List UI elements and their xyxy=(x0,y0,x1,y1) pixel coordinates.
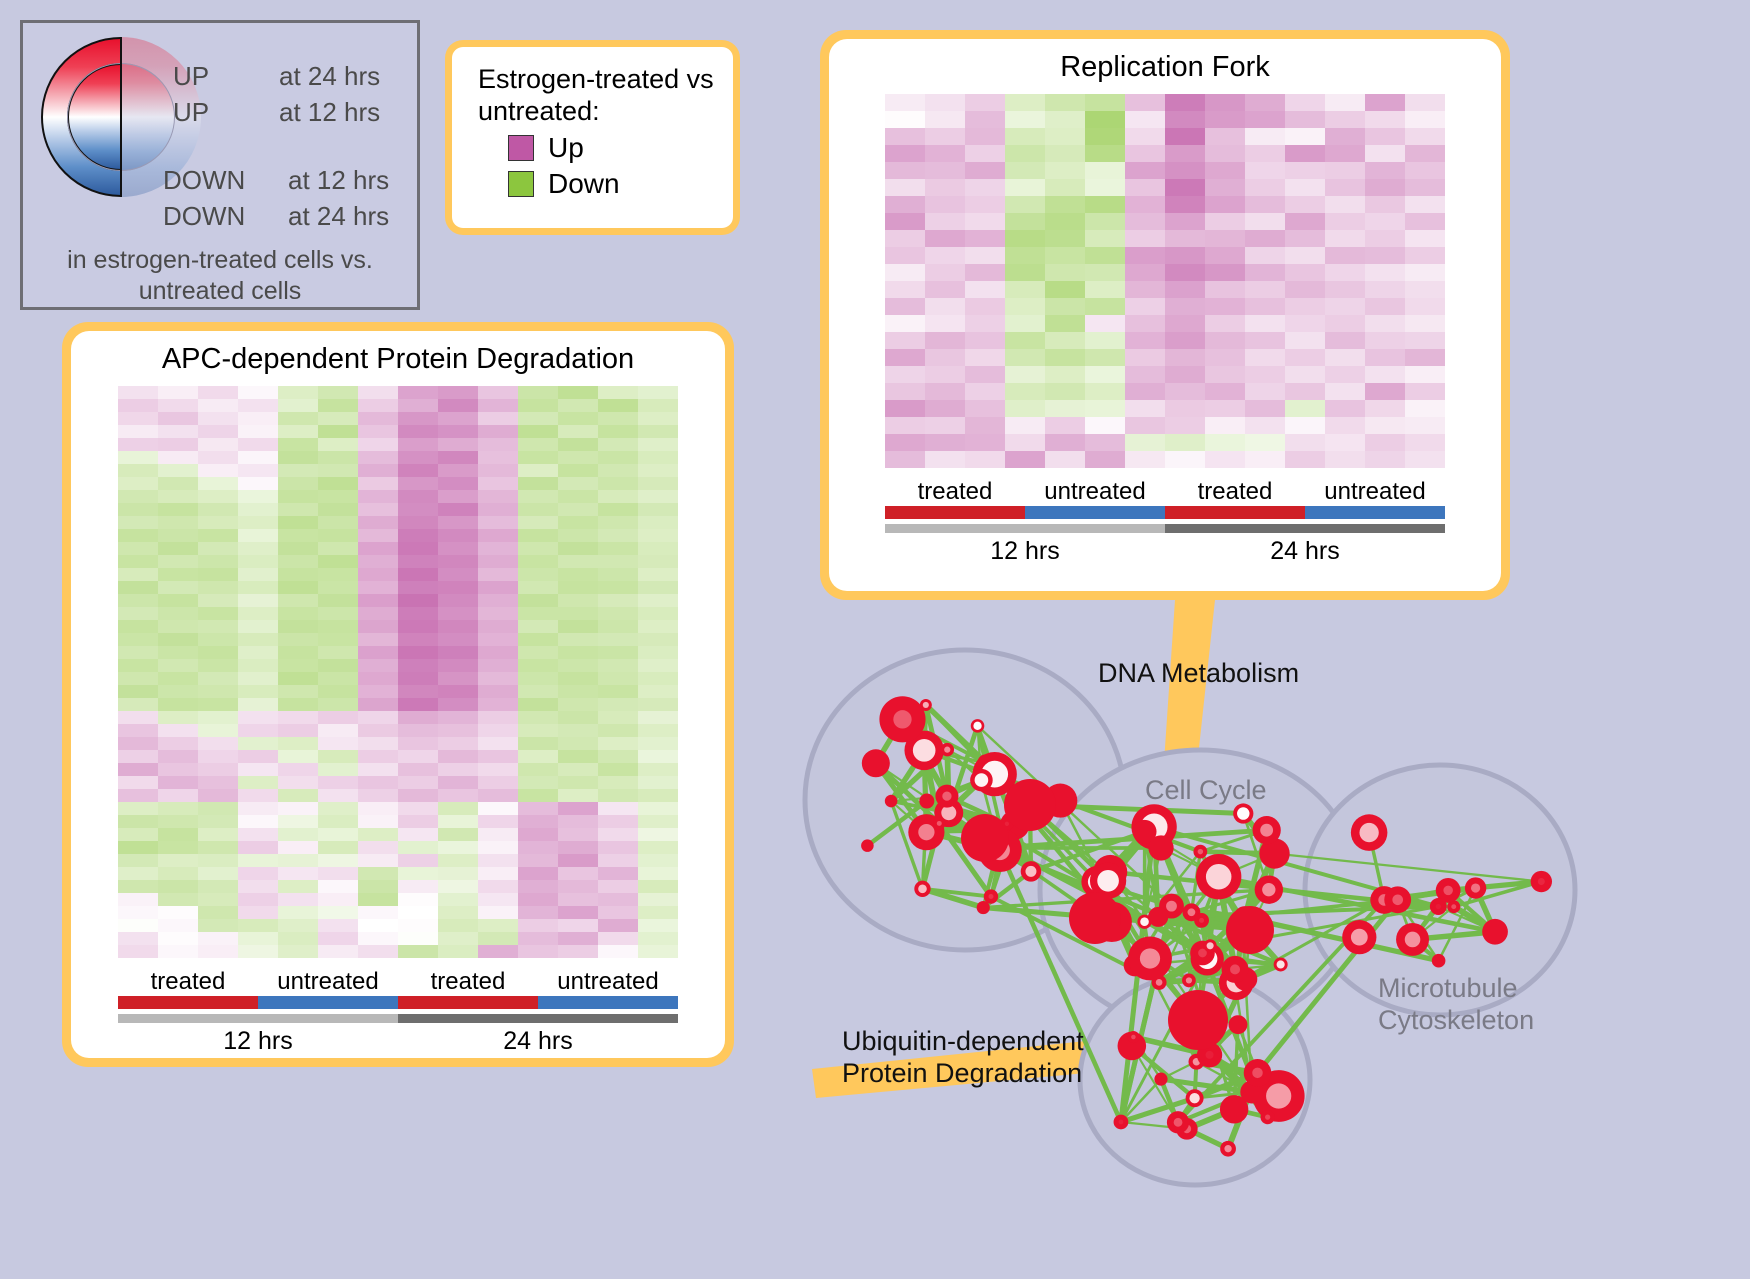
heatmap-cell xyxy=(1325,451,1365,468)
heatmap-cell xyxy=(1005,264,1045,281)
timepoint-colour-bar xyxy=(885,524,1445,533)
heatmap-cell xyxy=(198,399,238,412)
network-node[interactable] xyxy=(1167,1111,1189,1133)
heatmap-cell xyxy=(278,503,318,516)
heatmap-cell xyxy=(638,646,678,659)
heatmap-cell xyxy=(1085,434,1125,451)
heatmap-cell xyxy=(318,620,358,633)
heatmap-cell xyxy=(638,659,678,672)
network-node[interactable] xyxy=(1182,974,1196,988)
heatmap-cell xyxy=(438,724,478,737)
heatmap-cell xyxy=(398,399,438,412)
heatmap-cell xyxy=(598,802,638,815)
heatmap-cell xyxy=(278,750,318,763)
treatment-bar-segment xyxy=(1165,506,1305,519)
heatmap-cell xyxy=(1085,247,1125,264)
network-node[interactable] xyxy=(1233,803,1253,823)
axis-apc-degradation: treateduntreatedtreateduntreated12 hrs24… xyxy=(118,958,678,1056)
heatmap-cell xyxy=(1365,315,1405,332)
heatmap-cell xyxy=(638,503,678,516)
heatmap-cell xyxy=(358,646,398,659)
heatmap-cell xyxy=(238,555,278,568)
network-node[interactable] xyxy=(1220,1141,1236,1157)
heatmap-cell xyxy=(438,906,478,919)
heatmap-cell xyxy=(1365,451,1405,468)
heatmap-cell xyxy=(925,400,965,417)
heatmap-cell xyxy=(158,542,198,555)
heatmap-cell xyxy=(318,412,358,425)
heatmap-cell xyxy=(1045,264,1085,281)
heatmap-cell xyxy=(885,332,925,349)
heatmap-cell xyxy=(1005,281,1045,298)
heatmap-cell xyxy=(118,542,158,555)
network-node[interactable] xyxy=(1196,854,1241,899)
heatmap-cell xyxy=(158,672,198,685)
heatmap-cell xyxy=(1085,162,1125,179)
heatmap-cell xyxy=(438,516,478,529)
heatmap-cell xyxy=(1205,400,1245,417)
network-node[interactable] xyxy=(914,881,930,897)
node-outer-ring xyxy=(862,749,890,777)
heatmap-cell xyxy=(398,386,438,399)
heatmap-cell xyxy=(118,503,158,516)
heatmap-cell xyxy=(318,880,358,893)
heatmap-cell xyxy=(318,919,358,932)
heatmap-cell xyxy=(518,399,558,412)
heatmap-cell xyxy=(438,711,478,724)
heatmap-cell xyxy=(438,490,478,503)
heatmap-cell xyxy=(1405,247,1445,264)
heatmap-cell xyxy=(238,919,278,932)
heatmap-cell xyxy=(278,633,318,646)
heatmap-cell xyxy=(278,672,318,685)
heatmap-cell xyxy=(238,425,278,438)
heatmap-cell xyxy=(158,581,198,594)
heatmap-cell xyxy=(518,607,558,620)
network-node[interactable] xyxy=(1194,913,1209,928)
heatmap-cell xyxy=(398,438,438,451)
heatmap-cell xyxy=(318,555,358,568)
heatmap-cell xyxy=(1245,111,1285,128)
heatmap-cell xyxy=(885,196,925,213)
heatmap-cell xyxy=(1005,230,1045,247)
heatmap-cell xyxy=(925,281,965,298)
node-inner-core xyxy=(975,773,989,787)
network-node[interactable] xyxy=(1186,1089,1204,1107)
heatmap-cell xyxy=(478,685,518,698)
heatmap-cell xyxy=(598,633,638,646)
heatmap-cell xyxy=(1085,349,1125,366)
heatmap-cell xyxy=(318,776,358,789)
treatment-bar-segment xyxy=(398,996,538,1009)
heatmap-cell xyxy=(925,264,965,281)
heatmap-cell xyxy=(158,893,198,906)
heatmap-cell xyxy=(558,490,598,503)
network-node[interactable] xyxy=(1465,877,1486,898)
heatmap-cell xyxy=(238,542,278,555)
heatmap-cell xyxy=(398,503,438,516)
heatmap-cell xyxy=(1405,383,1445,400)
network-node[interactable] xyxy=(885,795,898,808)
legend-label-up: Up xyxy=(548,132,584,164)
heatmap-cell xyxy=(438,828,478,841)
network-node[interactable] xyxy=(1531,871,1552,892)
heatmap-cell xyxy=(358,425,398,438)
heatmap-cell xyxy=(1285,451,1325,468)
network-node[interactable] xyxy=(961,814,1009,862)
node-inner-core xyxy=(1277,960,1285,968)
heatmap-cell xyxy=(278,581,318,594)
heatmap-cell xyxy=(438,503,478,516)
wheel-row-time: at 12 hrs xyxy=(279,97,380,128)
network-node[interactable] xyxy=(970,769,993,792)
node-inner-core xyxy=(1189,1093,1199,1103)
heatmap-cell xyxy=(1205,145,1245,162)
network-node[interactable] xyxy=(879,696,925,742)
network-node[interactable] xyxy=(1244,1059,1272,1087)
heatmap-cell xyxy=(1245,417,1285,434)
network-node[interactable] xyxy=(1148,835,1173,860)
heatmap-cell xyxy=(1205,213,1245,230)
network-node[interactable] xyxy=(1127,1031,1139,1043)
heatmap-replication-fork xyxy=(885,94,1445,468)
heatmap-cell xyxy=(558,516,598,529)
heatmap-cell xyxy=(118,555,158,568)
heatmap-cell xyxy=(198,698,238,711)
heatmap-cell xyxy=(1005,145,1045,162)
network-node[interactable] xyxy=(941,743,954,756)
heatmap-cell xyxy=(158,919,198,932)
heatmap-cell xyxy=(558,594,598,607)
heatmap-cell xyxy=(478,893,518,906)
heatmap-cell xyxy=(925,417,965,434)
heatmap-cell xyxy=(478,724,518,737)
heatmap-cell xyxy=(965,145,1005,162)
network-node[interactable] xyxy=(1128,937,1172,981)
node-inner-core xyxy=(941,805,956,820)
heatmap-cell xyxy=(598,685,638,698)
heatmap-cell xyxy=(1245,383,1285,400)
heatmap-cell xyxy=(158,841,198,854)
heatmap-cell xyxy=(1165,349,1205,366)
network-node[interactable] xyxy=(1432,954,1446,968)
cluster-label-cell-cycle: Cell Cycle xyxy=(1145,775,1267,806)
network-node[interactable] xyxy=(1148,907,1168,927)
heatmap-cell xyxy=(518,698,558,711)
heatmap-cell xyxy=(558,698,598,711)
heatmap-cell xyxy=(478,594,518,607)
heatmap-cell xyxy=(1365,213,1405,230)
heatmap-cell xyxy=(518,893,558,906)
heatmap-cell xyxy=(478,828,518,841)
node-inner-core xyxy=(1451,904,1456,909)
heatmap-cell xyxy=(558,464,598,477)
heatmap-cell xyxy=(1365,281,1405,298)
heatmap-cell xyxy=(925,128,965,145)
network-node[interactable] xyxy=(919,794,934,809)
heatmap-cell xyxy=(278,828,318,841)
heatmap-cell xyxy=(1045,417,1085,434)
heatmap-cell xyxy=(965,128,1005,145)
heatmap-cell xyxy=(278,724,318,737)
heatmap-cell xyxy=(638,555,678,568)
network-node[interactable] xyxy=(1204,939,1217,952)
heatmap-cell xyxy=(518,425,558,438)
heatmap-cell xyxy=(558,737,598,750)
heatmap-cell xyxy=(198,802,238,815)
heatmap-cell xyxy=(558,555,598,568)
heatmap-cell xyxy=(398,425,438,438)
heatmap-cell xyxy=(1325,417,1365,434)
heatmap-cell xyxy=(518,763,558,776)
heatmap-cell xyxy=(638,776,678,789)
heatmap-cell xyxy=(925,111,965,128)
heatmap-cell xyxy=(118,516,158,529)
network-node[interactable] xyxy=(933,817,946,830)
heatmap-cell xyxy=(1405,94,1445,111)
network-node[interactable] xyxy=(935,785,958,808)
network-node[interactable] xyxy=(1482,919,1508,945)
heatmap-cell xyxy=(1325,230,1365,247)
heatmap-cell xyxy=(478,646,518,659)
heatmap-cell xyxy=(438,620,478,633)
heatmap-cell xyxy=(278,880,318,893)
network-node[interactable] xyxy=(861,839,874,852)
heatmap-cell xyxy=(1325,281,1365,298)
heatmap-cell xyxy=(318,607,358,620)
heatmap-cell xyxy=(158,685,198,698)
node-inner-core xyxy=(973,722,981,730)
heatmap-cell xyxy=(358,555,398,568)
heatmap-cell xyxy=(158,503,198,516)
heatmap-cell xyxy=(238,711,278,724)
node-outer-ring xyxy=(861,839,874,852)
node-outer-ring xyxy=(1069,892,1121,944)
heatmap-cell xyxy=(598,438,638,451)
heatmap-cell xyxy=(358,945,398,958)
heatmap-cell xyxy=(1165,434,1205,451)
heatmap-cell xyxy=(558,711,598,724)
heatmap-cell xyxy=(1125,145,1165,162)
node-inner-core xyxy=(1156,979,1163,986)
heatmap-cell xyxy=(238,789,278,802)
heatmap-cell xyxy=(965,179,1005,196)
heatmap-cell xyxy=(438,594,478,607)
heatmap-cell xyxy=(1205,179,1245,196)
heatmap-cell xyxy=(158,516,198,529)
heatmap-cell xyxy=(638,412,678,425)
heatmap-cell xyxy=(238,633,278,646)
network-node[interactable] xyxy=(1260,1110,1274,1124)
network-node[interactable] xyxy=(1430,898,1447,915)
heatmap-cell xyxy=(438,893,478,906)
network-node[interactable] xyxy=(1226,906,1274,954)
network-node[interactable] xyxy=(1154,1073,1167,1086)
heatmap-cell xyxy=(1245,145,1285,162)
node-inner-core xyxy=(1131,1035,1136,1040)
heatmap-cell xyxy=(438,750,478,763)
heatmap-cell xyxy=(1285,349,1325,366)
group-label-untreated: untreated xyxy=(538,968,678,996)
heatmap-cell xyxy=(358,789,398,802)
timepoint-bar-segment xyxy=(398,1014,678,1023)
heatmap-cell xyxy=(118,893,158,906)
heatmap-cell xyxy=(1005,366,1045,383)
heatmap-cell xyxy=(1125,332,1165,349)
heatmap-cell xyxy=(598,477,638,490)
network-node[interactable] xyxy=(1342,920,1376,954)
heatmap-cell xyxy=(558,685,598,698)
heatmap-cell xyxy=(238,854,278,867)
heatmap-cell xyxy=(1005,128,1045,145)
heatmap-cell xyxy=(278,685,318,698)
heatmap-cell xyxy=(1125,400,1165,417)
heatmap-cell xyxy=(598,568,638,581)
heatmap-cell xyxy=(518,776,558,789)
heatmap-cell xyxy=(1365,264,1405,281)
heatmap-cell xyxy=(278,932,318,945)
heatmap-cell xyxy=(198,477,238,490)
network-node[interactable] xyxy=(984,889,998,903)
heatmap-cell xyxy=(1165,400,1205,417)
heatmap-cell xyxy=(158,698,198,711)
heatmap-cell xyxy=(278,399,318,412)
wheel-row-key: DOWN xyxy=(163,165,245,196)
node-inner-core xyxy=(1119,1120,1124,1125)
heatmap-cell xyxy=(638,711,678,724)
heatmap-cell xyxy=(518,503,558,516)
heatmap-cell xyxy=(318,516,358,529)
heatmap-cell xyxy=(1325,247,1365,264)
heatmap-cell xyxy=(1085,315,1125,332)
heatmap-cell xyxy=(558,399,598,412)
heatmap-cell xyxy=(358,724,398,737)
heatmap-cell xyxy=(438,867,478,880)
heatmap-cell xyxy=(358,685,398,698)
heatmap-cell xyxy=(558,438,598,451)
heatmap-cell xyxy=(358,581,398,594)
heatmap-cell xyxy=(398,594,438,607)
heatmap-cell xyxy=(398,568,438,581)
heatmap-cell xyxy=(238,581,278,594)
heatmap-cell xyxy=(925,451,965,468)
heatmap-cell xyxy=(158,815,198,828)
heatmap-cell xyxy=(158,828,198,841)
heatmap-cell xyxy=(358,477,398,490)
heatmap-cell xyxy=(1365,230,1405,247)
heatmap-cell xyxy=(1165,230,1205,247)
heatmap-cell xyxy=(158,490,198,503)
heatmap-cell xyxy=(1125,128,1165,145)
heatmap-cell xyxy=(638,399,678,412)
heatmap-cell xyxy=(398,607,438,620)
panel-apc-inner: APC-dependent Protein Degradation treate… xyxy=(71,331,725,1058)
heatmap-cell xyxy=(118,711,158,724)
heatmap-cell xyxy=(1125,230,1165,247)
heatmap-cell xyxy=(438,815,478,828)
network-node[interactable] xyxy=(1222,956,1249,983)
node-inner-core xyxy=(918,885,927,894)
heatmap-cell xyxy=(318,438,358,451)
heatmap-cell xyxy=(518,646,558,659)
network-node[interactable] xyxy=(1384,886,1411,913)
network-node[interactable] xyxy=(1069,892,1121,944)
heatmap-cell xyxy=(1085,383,1125,400)
heatmap-cell xyxy=(1045,230,1085,247)
network-node[interactable] xyxy=(1351,814,1388,851)
heatmap-cell xyxy=(518,594,558,607)
network-node[interactable] xyxy=(971,719,985,733)
heatmap-cell xyxy=(478,464,518,477)
network-node[interactable] xyxy=(1004,779,1056,831)
heatmap-cell xyxy=(1205,94,1245,111)
heatmap-cell xyxy=(198,711,238,724)
node-inner-core xyxy=(1025,866,1036,877)
node-outer-ring xyxy=(1154,1073,1167,1086)
heatmap-cell xyxy=(278,516,318,529)
network-node[interactable] xyxy=(1255,875,1283,903)
heatmap-cell xyxy=(238,503,278,516)
network-node[interactable] xyxy=(1274,957,1288,971)
heatmap-cell xyxy=(1325,94,1365,111)
network-node[interactable] xyxy=(1396,923,1429,956)
heatmap-cell xyxy=(1245,247,1285,264)
network-node[interactable] xyxy=(1193,845,1207,859)
heatmap-cell xyxy=(1405,111,1445,128)
heatmap-cell xyxy=(1285,383,1325,400)
network-node[interactable] xyxy=(1114,1115,1129,1130)
heatmap-cell xyxy=(558,672,598,685)
heatmap-cell xyxy=(558,867,598,880)
heatmap-cell xyxy=(638,633,678,646)
heatmap-cell xyxy=(438,789,478,802)
heatmap-cell xyxy=(158,945,198,958)
network-node[interactable] xyxy=(1229,1015,1248,1034)
heatmap-cell xyxy=(438,737,478,750)
heatmap-cell xyxy=(438,802,478,815)
heatmap-cell xyxy=(278,620,318,633)
heatmap-cell xyxy=(1365,179,1405,196)
heatmap-cell xyxy=(158,386,198,399)
network-node[interactable] xyxy=(1168,990,1228,1050)
network-node[interactable] xyxy=(862,749,890,777)
heatmap-cell xyxy=(598,867,638,880)
node-inner-core xyxy=(1186,977,1192,983)
heatmap-cell xyxy=(358,828,398,841)
heatmap-cell xyxy=(398,867,438,880)
heatmap-cell xyxy=(278,594,318,607)
heatmap-cell xyxy=(158,594,198,607)
network-node[interactable] xyxy=(1021,861,1042,882)
heatmap-cell xyxy=(198,737,238,750)
colour-wheel-legend: UP at 24 hrs UP at 12 hrs DOWN at 12 hrs… xyxy=(20,20,420,310)
node-inner-core xyxy=(1443,886,1453,896)
heatmap-cell xyxy=(358,672,398,685)
legend-item-down: Down xyxy=(508,168,723,200)
heatmap-cell xyxy=(1045,94,1085,111)
node-inner-core xyxy=(988,894,993,899)
network-node[interactable] xyxy=(1253,816,1281,844)
panel-title-apc: APC-dependent Protein Degradation xyxy=(162,343,634,376)
heatmap-cell xyxy=(158,906,198,919)
heatmap-cell xyxy=(358,841,398,854)
heatmap-cell xyxy=(358,516,398,529)
heatmap-cell xyxy=(598,425,638,438)
heatmap-cell xyxy=(1045,179,1085,196)
heatmap-cell xyxy=(438,529,478,542)
heatmap-cell xyxy=(1365,434,1405,451)
heatmap-cell xyxy=(885,179,925,196)
